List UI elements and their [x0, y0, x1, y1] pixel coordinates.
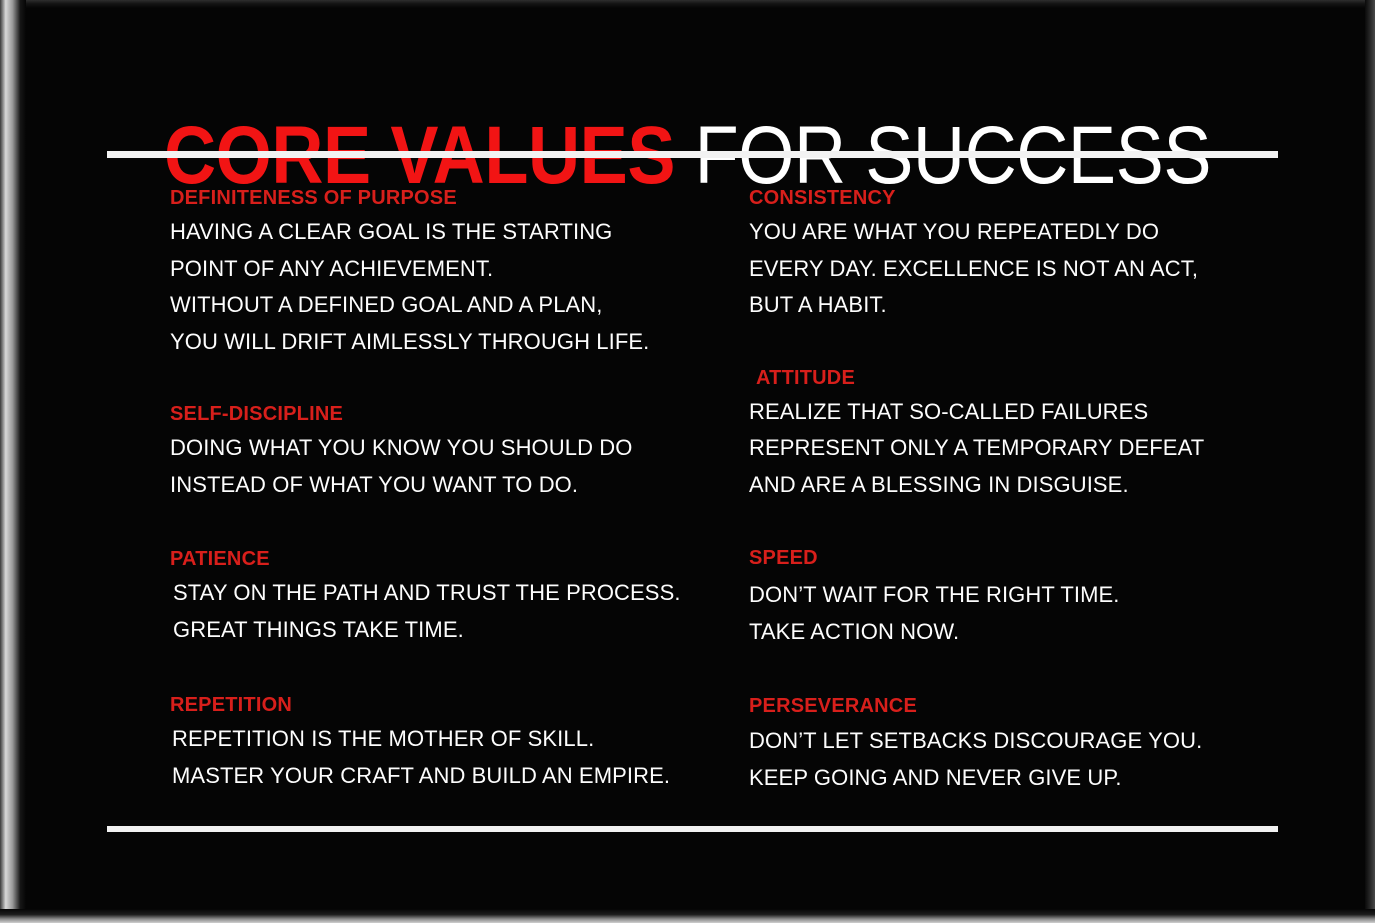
body-line: WITHOUT A DEFINED GOAL AND A PLAN, [170, 287, 730, 324]
section-heading: CONSISTENCY [749, 186, 1269, 210]
value-section-repetition: REPETITION REPETITION IS THE MOTHER OF S… [170, 648, 730, 794]
section-heading: DEFINITENESS OF PURPOSE [170, 186, 730, 210]
poster-frame-left-edge [0, 0, 26, 923]
section-heading: PERSEVERANCE [749, 694, 1269, 718]
body-line: DOING WHAT YOU KNOW YOU SHOULD DO [170, 430, 730, 467]
value-section-self-discipline: SELF-DISCIPLINE DOING WHAT YOU KNOW YOU … [170, 360, 730, 503]
poster-frame-right-edge [1365, 0, 1375, 923]
section-heading: SPEED [749, 546, 1269, 570]
body-line: DON’T WAIT FOR THE RIGHT TIME. [749, 577, 1269, 614]
value-section-consistency: CONSISTENCY YOU ARE WHAT YOU REPEATEDLY … [749, 186, 1269, 324]
section-heading: REPETITION [170, 693, 730, 717]
section-body: REALIZE THAT SO-CALLED FAILURES REPRESEN… [749, 390, 1269, 504]
section-body: HAVING A CLEAR GOAL IS THE STARTING POIN… [170, 210, 730, 360]
body-line: REPRESENT ONLY A TEMPORARY DEFEAT [749, 430, 1269, 467]
divider-rule-top [107, 151, 1278, 158]
body-line: HAVING A CLEAR GOAL IS THE STARTING [170, 214, 730, 251]
body-line: STAY ON THE PATH AND TRUST THE PROCESS. [173, 575, 730, 612]
section-heading: PATIENCE [170, 547, 730, 571]
body-line: REPETITION IS THE MOTHER OF SKILL. [172, 721, 730, 758]
section-body: STAY ON THE PATH AND TRUST THE PROCESS. … [170, 571, 730, 648]
core-values-poster: CORE VALUES FOR SUCCESS DEFINITENESS OF … [0, 0, 1375, 923]
body-line: YOU WILL DRIFT AIMLESSLY THROUGH LIFE. [170, 324, 730, 361]
section-heading: ATTITUDE [749, 366, 1269, 390]
values-column-left: DEFINITENESS OF PURPOSE HAVING A CLEAR G… [170, 186, 730, 794]
section-body: DON’T WAIT FOR THE RIGHT TIME. TAKE ACTI… [749, 570, 1269, 650]
value-section-definiteness-of-purpose: DEFINITENESS OF PURPOSE HAVING A CLEAR G… [170, 186, 730, 360]
poster-frame-top-edge [0, 0, 1375, 8]
body-line: POINT OF ANY ACHIEVEMENT. [170, 251, 730, 288]
body-line: INSTEAD OF WHAT YOU WANT TO DO. [170, 467, 730, 504]
value-section-patience: PATIENCE STAY ON THE PATH AND TRUST THE … [170, 503, 730, 648]
value-section-speed: SPEED DON’T WAIT FOR THE RIGHT TIME. TAK… [749, 503, 1269, 650]
body-line: REALIZE THAT SO-CALLED FAILURES [749, 394, 1269, 431]
value-section-attitude: ATTITUDE REALIZE THAT SO-CALLED FAILURES… [749, 324, 1269, 504]
section-body: REPETITION IS THE MOTHER OF SKILL. MASTE… [170, 717, 730, 794]
section-body: YOU ARE WHAT YOU REPEATEDLY DO EVERY DAY… [749, 210, 1269, 324]
section-body: DON’T LET SETBACKS DISCOURAGE YOU. KEEP … [749, 718, 1269, 796]
body-line: GREAT THINGS TAKE TIME. [173, 612, 730, 649]
body-line: EVERY DAY. EXCELLENCE IS NOT AN ACT, [749, 251, 1269, 288]
body-line: YOU ARE WHAT YOU REPEATEDLY DO [749, 214, 1269, 251]
value-section-perseverance: PERSEVERANCE DON’T LET SETBACKS DISCOURA… [749, 650, 1269, 796]
body-line: MASTER YOUR CRAFT AND BUILD AN EMPIRE. [172, 758, 730, 795]
body-line: DON’T LET SETBACKS DISCOURAGE YOU. [749, 723, 1269, 760]
section-heading: SELF-DISCIPLINE [170, 402, 730, 426]
body-line: BUT A HABIT. [749, 287, 1269, 324]
divider-rule-bottom [107, 826, 1278, 832]
values-column-right: CONSISTENCY YOU ARE WHAT YOU REPEATEDLY … [749, 186, 1269, 796]
body-line: KEEP GOING AND NEVER GIVE UP. [749, 760, 1269, 797]
poster-frame-bottom-edge [0, 909, 1375, 923]
body-line: AND ARE A BLESSING IN DISGUISE. [749, 467, 1269, 504]
section-body: DOING WHAT YOU KNOW YOU SHOULD DO INSTEA… [170, 426, 730, 503]
body-line: TAKE ACTION NOW. [749, 614, 1269, 651]
